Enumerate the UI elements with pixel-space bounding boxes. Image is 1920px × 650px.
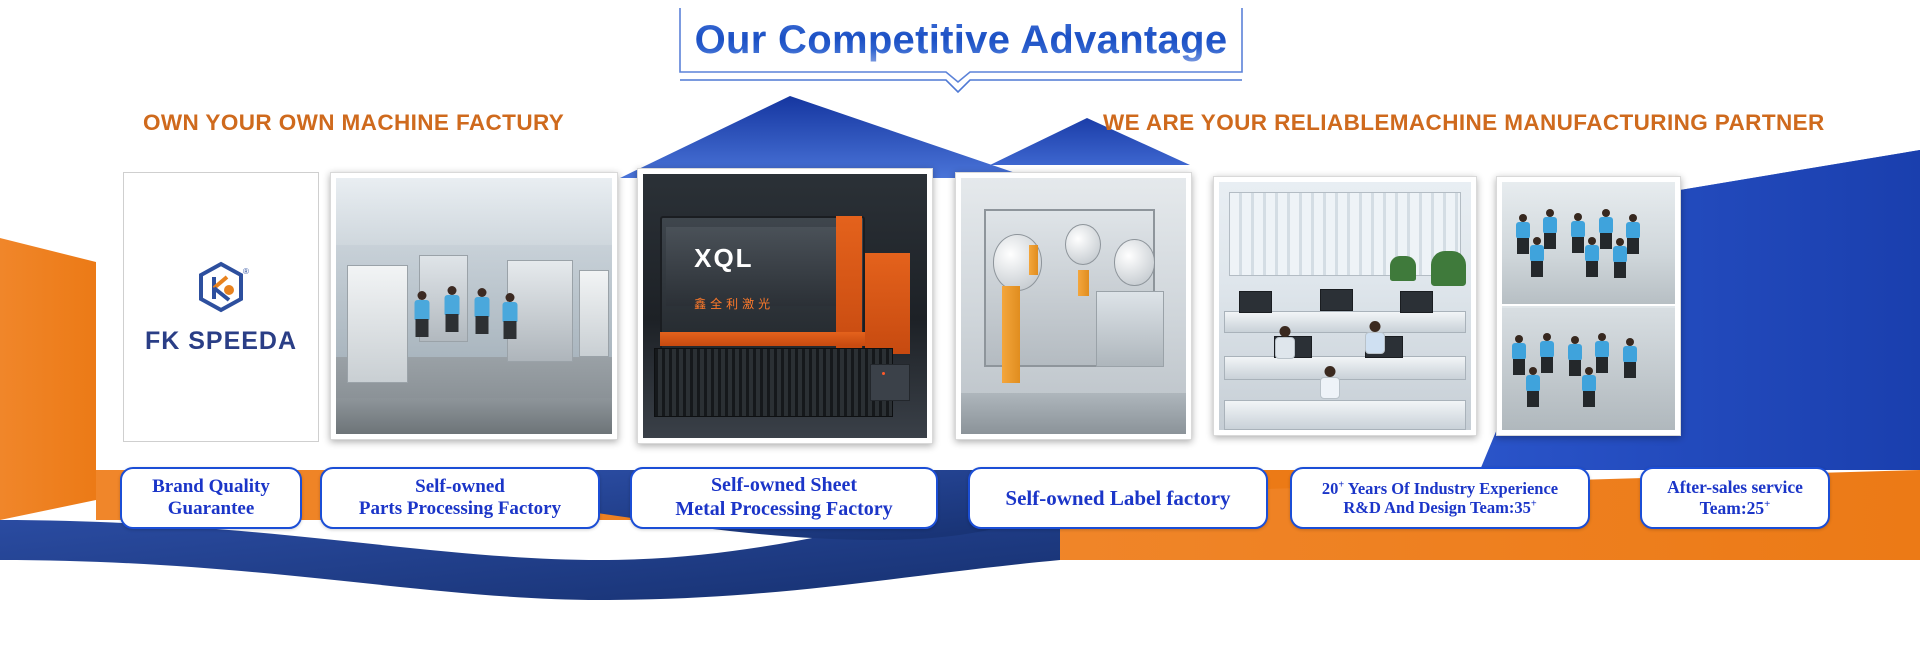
label-machine-scene	[961, 178, 1186, 434]
caption-line-1: Self-owned	[415, 476, 505, 497]
caption-line-1: Self-owned Sheet	[711, 474, 857, 496]
caption-parts-factory[interactable]: Self-owned Parts Processing Factory	[320, 467, 600, 529]
photo-card-label-machine[interactable]	[955, 172, 1192, 440]
caption-line-1: Self-owned Label factory	[1005, 486, 1230, 510]
caption-label-factory[interactable]: Self-owned Label factory	[968, 467, 1268, 529]
page-title: Our Competitive Advantage	[676, 18, 1246, 63]
hexagon-k-logo-icon: ®	[193, 259, 249, 321]
factory-scene	[336, 178, 612, 434]
caption-line-2: Guarantee	[152, 498, 270, 520]
caption-experience-rnd[interactable]: 20+ Years Of Industry Experience R&D And…	[1290, 467, 1590, 529]
machine-brand-sublabel: 鑫全利激光	[694, 295, 774, 312]
caption-brand-quality[interactable]: Brand Quality Guarantee	[120, 467, 302, 529]
photo-card-rnd-office[interactable]	[1213, 176, 1477, 436]
photo-card-logo[interactable]: ® FK SPEEDA	[123, 172, 319, 442]
caption-line-1: After-sales service	[1667, 477, 1803, 497]
service-team-scene	[1502, 182, 1675, 430]
heading-left: OWN YOUR OWN MACHINE FACTURY	[143, 110, 564, 136]
heading-right: WE ARE YOUR RELIABLEMACHINE MANUFACTURIN…	[1103, 110, 1825, 136]
brand-name: FK SPEEDA	[145, 327, 297, 356]
caption-line-1: Brand Quality	[152, 476, 270, 497]
caption-after-sales[interactable]: After-sales service Team:25+	[1640, 467, 1830, 529]
machine-brand-label: XQL	[694, 243, 753, 274]
caption-line-2: Metal Processing Factory	[675, 498, 892, 522]
caption-line-2: Team:25+	[1667, 498, 1803, 519]
caption-line-1: 20+ Years Of Industry Experience	[1322, 479, 1558, 498]
photo-card-service-team[interactable]	[1496, 176, 1681, 436]
rnd-office-scene	[1219, 182, 1471, 430]
brand-logo: ® FK SPEEDA	[129, 178, 313, 436]
caption-line-2: R&D And Design Team:35+	[1322, 498, 1558, 517]
caption-line-2: Parts Processing Factory	[359, 498, 561, 520]
caption-pills: Brand Quality Guarantee Self-owned Parts…	[0, 467, 1920, 537]
photo-card-parts-factory[interactable]	[330, 172, 618, 440]
svg-text:®: ®	[243, 267, 249, 276]
banner-stage: Our Competitive Advantage OWN YOUR OWN M…	[0, 0, 1920, 650]
laser-machine-scene: XQL 鑫全利激光	[643, 174, 927, 438]
title-block: Our Competitive Advantage	[676, 6, 1246, 98]
photo-card-laser-machine[interactable]: XQL 鑫全利激光	[637, 168, 933, 444]
photo-strip: ® FK SPEEDA	[0, 172, 1920, 462]
caption-sheet-metal-factory[interactable]: Self-owned Sheet Metal Processing Factor…	[630, 467, 938, 529]
